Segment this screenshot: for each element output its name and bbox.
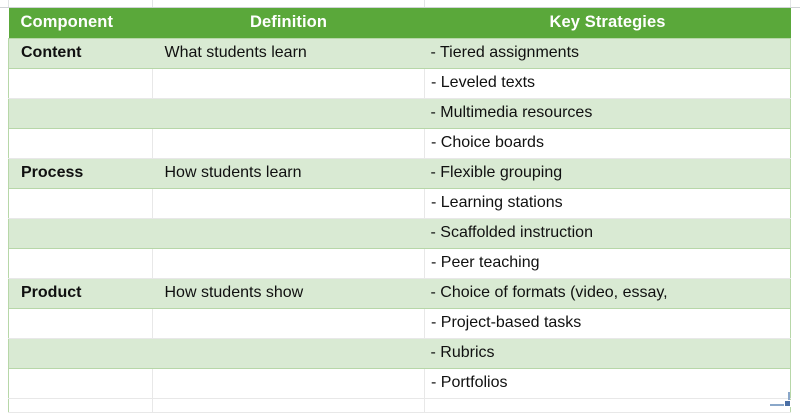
cell-component[interactable] [9,398,153,412]
table-row: - Multimedia resources [9,98,791,128]
column-rule [152,0,153,7]
cell-definition[interactable]: What students learn [153,38,425,68]
cell-definition[interactable] [153,368,425,398]
cell-key-strategy[interactable]: - Rubrics [425,338,791,368]
cell-definition[interactable] [153,98,425,128]
cell-definition[interactable] [153,308,425,338]
cell-key-strategy[interactable]: - Choice of formats (video, essay, [425,278,791,308]
header-row: Component Definition Key Strategies [9,8,791,38]
cell-definition[interactable] [153,338,425,368]
cell-component[interactable]: Process [9,158,153,188]
cell-key-strategy[interactable]: - Portfolios [425,368,791,398]
table-row: - Learning stations [9,188,791,218]
cell-definition[interactable]: How students show [153,278,425,308]
table-row: - Project-based tasks [9,308,791,338]
cell-component[interactable] [9,188,153,218]
table-row: - Scaffolded instruction [9,218,791,248]
cell-definition[interactable] [153,398,425,412]
selection-resize-handle[interactable] [784,400,791,407]
table-row [9,398,791,412]
cell-key-strategy[interactable]: - Project-based tasks [425,308,791,338]
cell-component[interactable] [9,338,153,368]
table-row: - Rubrics [9,338,791,368]
cell-key-strategy[interactable]: - Multimedia resources [425,98,791,128]
table-row: - Peer teaching [9,248,791,278]
cell-component[interactable] [9,368,153,398]
cell-component[interactable] [9,68,153,98]
cell-key-strategy[interactable]: - Learning stations [425,188,791,218]
cell-component[interactable]: Product [9,278,153,308]
table-row: - Choice boards [9,128,791,158]
column-rule [790,0,791,7]
cell-component[interactable]: Content [9,38,153,68]
cell-key-strategy[interactable]: - Choice boards [425,128,791,158]
table-row: - Leveled texts [9,68,791,98]
cell-definition[interactable] [153,188,425,218]
cell-key-strategy[interactable]: - Leveled texts [425,68,791,98]
column-header-key-strategies[interactable]: Key Strategies [425,8,791,38]
table-body: ContentWhat students learn- Tiered assig… [9,38,791,412]
cell-component[interactable] [9,308,153,338]
cell-component[interactable] [9,98,153,128]
scrolled-row-sliver [0,0,800,8]
cell-key-strategy[interactable]: - Peer teaching [425,248,791,278]
table-row: ProductHow students show- Choice of form… [9,278,791,308]
column-header-definition[interactable]: Definition [153,8,425,38]
cell-component[interactable] [9,128,153,158]
column-rule [8,0,9,7]
column-rule [424,0,425,7]
cell-key-strategy[interactable]: - Scaffolded instruction [425,218,791,248]
cell-component[interactable] [9,218,153,248]
cell-key-strategy[interactable]: - Flexible grouping [425,158,791,188]
cell-component[interactable] [9,248,153,278]
spreadsheet-viewport: Component Definition Key Strategies Cont… [0,0,800,416]
table-header: Component Definition Key Strategies [9,8,791,38]
table-row: - Portfolios [9,368,791,398]
cell-key-strategy[interactable] [425,398,791,412]
table-row: ContentWhat students learn- Tiered assig… [9,38,791,68]
cell-definition[interactable]: How students learn [153,158,425,188]
table-row: ProcessHow students learn- Flexible grou… [9,158,791,188]
cell-key-strategy[interactable]: - Tiered assignments [425,38,791,68]
cell-definition[interactable] [153,218,425,248]
cell-definition[interactable] [153,128,425,158]
differentiation-table: Component Definition Key Strategies Cont… [8,8,791,413]
column-header-component[interactable]: Component [9,8,153,38]
cell-definition[interactable] [153,68,425,98]
cell-definition[interactable] [153,248,425,278]
